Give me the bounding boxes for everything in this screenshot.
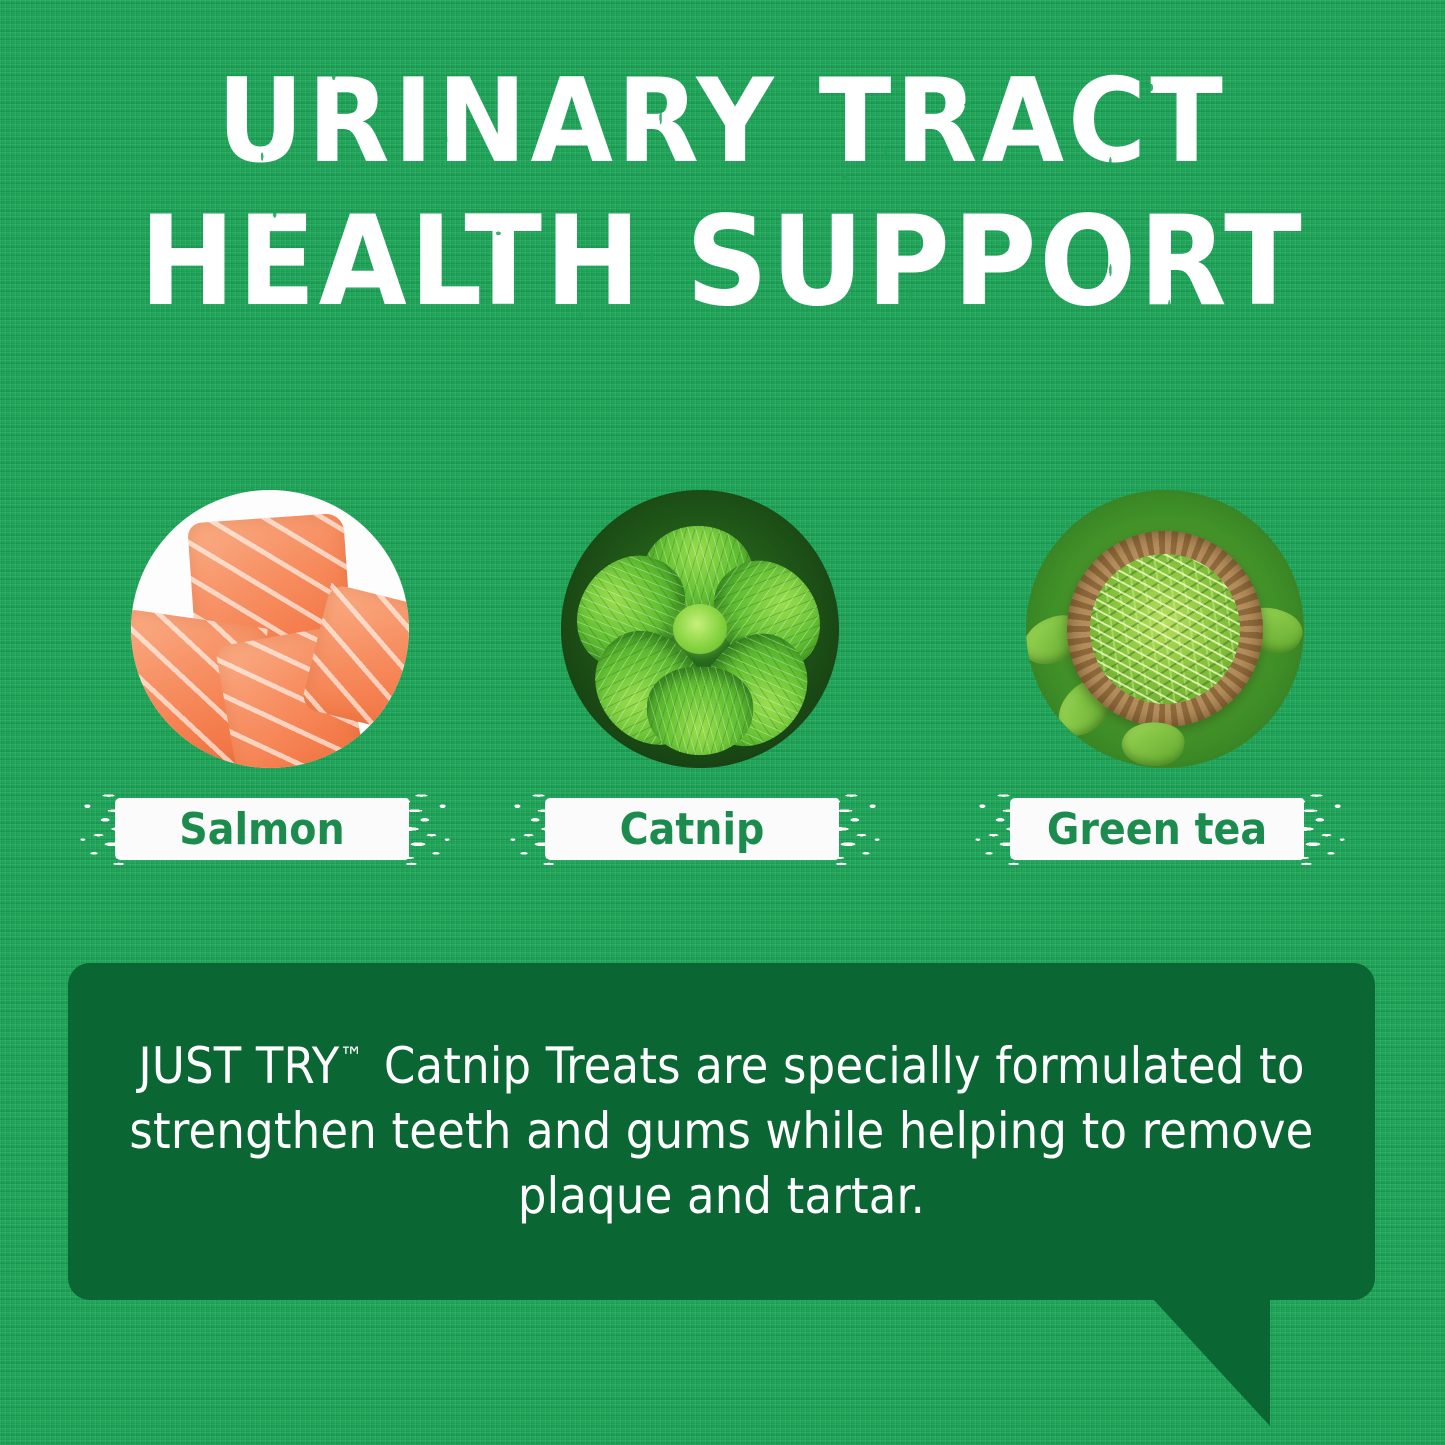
- mint-leaf-center: [673, 604, 727, 654]
- product-feature-poster: URINARY TRACT HEALTH SUPPORT Salmon: [0, 0, 1445, 1445]
- green-tea-leaves-basket-photo: [1026, 490, 1304, 768]
- callout-text: JUST TRY™Catnip Treats are specially for…: [128, 1034, 1315, 1229]
- ingredient-label-banner: Salmon: [115, 790, 425, 872]
- trademark-symbol: ™: [339, 1042, 362, 1072]
- ingredient-list: Salmon Catnip: [0, 490, 1445, 880]
- ingredient-label-banner: Catnip: [545, 790, 855, 872]
- speech-bubble-tail: [1152, 1298, 1270, 1426]
- ingredient-label-salmon: Salmon: [115, 798, 409, 860]
- callout-speech-bubble: JUST TRY™Catnip Treats are specially for…: [68, 963, 1375, 1300]
- page-title: URINARY TRACT HEALTH SUPPORT: [0, 54, 1445, 335]
- salmon-cubes-photo: [131, 490, 409, 768]
- headline-line-1: URINARY TRACT: [218, 54, 1228, 190]
- ingredient-label-catnip: Catnip: [545, 798, 839, 860]
- ingredient-label-banner: Green tea: [1010, 790, 1320, 872]
- ingredient-item-catnip: Catnip: [561, 490, 839, 872]
- brand-name: JUST TRY: [138, 1037, 339, 1095]
- ingredient-label-green-tea: Green tea: [1010, 798, 1304, 860]
- ingredient-item-green-tea: Green tea: [1026, 490, 1304, 872]
- catnip-mint-leaves-photo: [561, 490, 839, 768]
- ingredient-item-salmon: Salmon: [131, 490, 409, 872]
- mint-leaf: [647, 667, 753, 755]
- tea-leaves-pile: [1090, 554, 1240, 704]
- headline-line-2: HEALTH SUPPORT: [140, 190, 1305, 335]
